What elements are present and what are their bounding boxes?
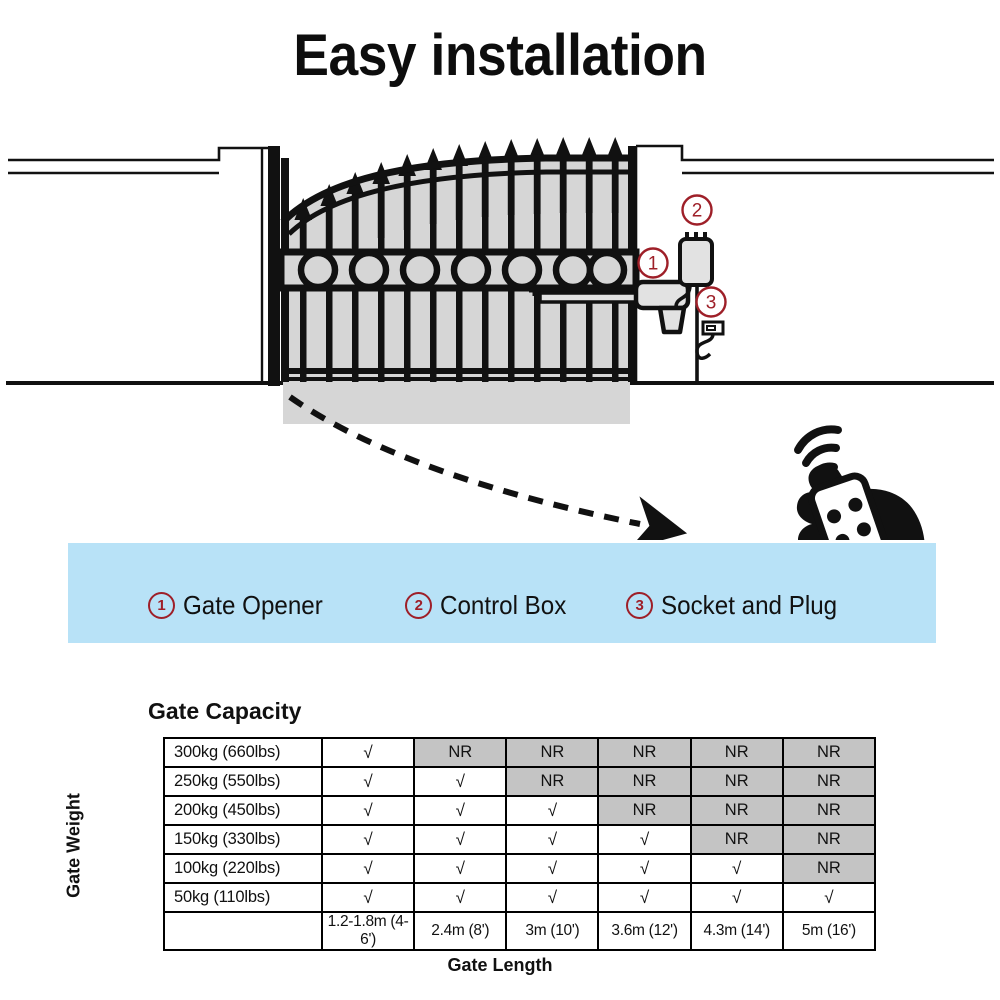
row-label: 200kg (450lbs) bbox=[164, 796, 322, 825]
row-label: 150kg (330lbs) bbox=[164, 825, 322, 854]
cell: √ bbox=[322, 883, 414, 912]
gate-weight-axis-label: Gate Weight bbox=[64, 766, 85, 926]
cell: √ bbox=[322, 767, 414, 796]
cell: √ bbox=[691, 883, 783, 912]
cell: √ bbox=[414, 796, 506, 825]
cell: √ bbox=[322, 796, 414, 825]
column-header: 3.6m (12') bbox=[598, 912, 690, 950]
gate-installation-diagram: 1 2 3 bbox=[0, 100, 1000, 540]
callout-3: 3 bbox=[697, 288, 726, 317]
column-header: 5m (16') bbox=[783, 912, 875, 950]
legend-item-control-box: 2 Control Box bbox=[405, 590, 576, 621]
cell: NR bbox=[506, 738, 598, 767]
legend-number-1-icon: 1 bbox=[148, 592, 175, 619]
gate-opener-arm bbox=[529, 289, 648, 302]
legend-label-control-box: Control Box bbox=[440, 590, 566, 621]
table-row: 300kg (660lbs) √ NR NR NR NR NR bbox=[164, 738, 875, 767]
gate-panel bbox=[281, 137, 636, 424]
cell: √ bbox=[322, 854, 414, 883]
cell: √ bbox=[691, 854, 783, 883]
cell: √ bbox=[506, 825, 598, 854]
cell: NR bbox=[783, 825, 875, 854]
table-row: 50kg (110lbs) √ √ √ √ √ √ bbox=[164, 883, 875, 912]
legend-item-gate-opener: 1 Gate Opener bbox=[148, 590, 333, 621]
cell: NR bbox=[691, 738, 783, 767]
column-header: 3m (10') bbox=[506, 912, 598, 950]
gate-opener-motor bbox=[636, 282, 688, 332]
socket-and-plug bbox=[697, 322, 723, 358]
callout-1: 1 bbox=[639, 249, 668, 278]
cell: NR bbox=[783, 854, 875, 883]
cell: NR bbox=[691, 767, 783, 796]
gate-capacity-table-body: 300kg (660lbs) √ NR NR NR NR NR 250kg (5… bbox=[164, 738, 875, 950]
gate-ornament-band bbox=[281, 252, 636, 288]
table-column-header-row: 1.2-1.8m (4-6') 2.4m (8') 3m (10') 3.6m … bbox=[164, 912, 875, 950]
column-header: 4.3m (14') bbox=[691, 912, 783, 950]
corner-cell bbox=[164, 912, 322, 950]
cell: √ bbox=[414, 767, 506, 796]
page-title: Easy installation bbox=[40, 22, 960, 89]
row-label: 100kg (220lbs) bbox=[164, 854, 322, 883]
cell: √ bbox=[414, 854, 506, 883]
table-row: 150kg (330lbs) √ √ √ √ NR NR bbox=[164, 825, 875, 854]
gate-capacity-heading: Gate Capacity bbox=[148, 698, 301, 725]
legend-row: 1 Gate Opener 2 Control Box 3 Socket and… bbox=[68, 585, 936, 625]
cell: √ bbox=[414, 825, 506, 854]
cell: NR bbox=[783, 796, 875, 825]
svg-text:2: 2 bbox=[692, 201, 703, 222]
left-wall bbox=[8, 146, 280, 386]
gate-capacity-table: 300kg (660lbs) √ NR NR NR NR NR 250kg (5… bbox=[163, 737, 876, 951]
cell: NR bbox=[414, 738, 506, 767]
cell: √ bbox=[506, 854, 598, 883]
legend-number-2-icon: 2 bbox=[405, 592, 432, 619]
cell: √ bbox=[598, 854, 690, 883]
gate-length-axis-label: Gate Length bbox=[0, 955, 1000, 976]
row-label: 50kg (110lbs) bbox=[164, 883, 322, 912]
row-label: 250kg (550lbs) bbox=[164, 767, 322, 796]
cell: √ bbox=[414, 883, 506, 912]
cell: NR bbox=[783, 767, 875, 796]
cell: NR bbox=[598, 738, 690, 767]
cell: NR bbox=[506, 767, 598, 796]
svg-text:3: 3 bbox=[706, 293, 717, 314]
table-row: 250kg (550lbs) √ √ NR NR NR NR bbox=[164, 767, 875, 796]
cell: √ bbox=[322, 738, 414, 767]
cell: √ bbox=[506, 796, 598, 825]
cell: √ bbox=[598, 883, 690, 912]
table-row: 200kg (450lbs) √ √ √ NR NR NR bbox=[164, 796, 875, 825]
table-row: 100kg (220lbs) √ √ √ √ √ NR bbox=[164, 854, 875, 883]
cell: √ bbox=[783, 883, 875, 912]
cell: NR bbox=[691, 796, 783, 825]
column-header: 2.4m (8') bbox=[414, 912, 506, 950]
remote-control-in-hand bbox=[797, 429, 925, 540]
cell: NR bbox=[783, 738, 875, 767]
legend-item-socket-and-plug: 3 Socket and Plug bbox=[626, 590, 850, 621]
callout-2: 2 bbox=[683, 196, 712, 225]
column-header: 1.2-1.8m (4-6') bbox=[322, 912, 414, 950]
cell: √ bbox=[322, 825, 414, 854]
cell: √ bbox=[506, 883, 598, 912]
legend-label-socket-and-plug: Socket and Plug bbox=[661, 590, 837, 621]
cell: NR bbox=[691, 825, 783, 854]
row-label: 300kg (660lbs) bbox=[164, 738, 322, 767]
svg-text:1: 1 bbox=[648, 254, 659, 275]
legend-number-3-icon: 3 bbox=[626, 592, 653, 619]
legend-label-gate-opener: Gate Opener bbox=[183, 590, 323, 621]
legend-bar: 1 Gate Opener 2 Control Box 3 Socket and… bbox=[68, 543, 936, 643]
cell: NR bbox=[598, 796, 690, 825]
cell: √ bbox=[598, 825, 690, 854]
cell: NR bbox=[598, 767, 690, 796]
